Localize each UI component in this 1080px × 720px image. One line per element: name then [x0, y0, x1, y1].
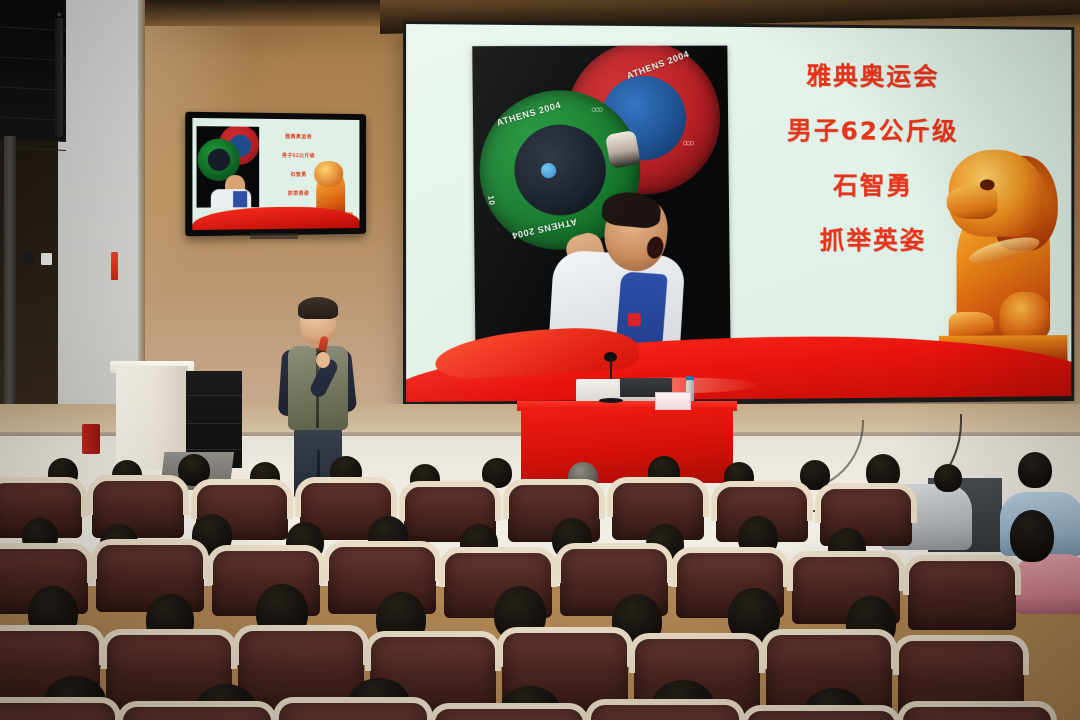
- auditorium-seat[interactable]: [908, 560, 1016, 630]
- auditorium-scene: 雅典奥运会 男子62公斤级 石智勇 抓举英姿 ATHENS 2004 ○○○: [0, 0, 1080, 720]
- auditorium-seat[interactable]: [278, 702, 428, 720]
- athlete-hair: [601, 190, 663, 230]
- auditorium-seat[interactable]: [902, 706, 1052, 720]
- name-card: [655, 392, 691, 410]
- audience-hoodie: [1014, 554, 1080, 614]
- tv-line-2: 男子62公斤级: [267, 152, 330, 159]
- slide-line-1: 雅典奥运会: [763, 63, 982, 89]
- wall-jack: [24, 250, 33, 264]
- plate-reflection: [541, 163, 556, 178]
- auditorium-seat[interactable]: [590, 704, 740, 720]
- projection-screen-frame: ATHENS 2004 ○○○ ATHENS 2004 ATHENS 2004 …: [403, 21, 1074, 407]
- speaker-mount-bracket: [55, 18, 63, 136]
- desk-microphone-base: [599, 398, 623, 403]
- green-plate-hub: [514, 124, 606, 216]
- projection-screen: ATHENS 2004 ○○○ ATHENS 2004 ATHENS 2004 …: [406, 24, 1071, 402]
- red-silk-ribbon: [406, 306, 1071, 402]
- tv-wall-mount: [250, 233, 298, 239]
- auditorium-seat[interactable]: [434, 708, 584, 720]
- auditorium-seat[interactable]: [0, 702, 116, 720]
- lion-eye: [980, 179, 995, 190]
- slide-line-2: 男子62公斤级: [763, 118, 982, 144]
- auditorium-seat[interactable]: [122, 706, 272, 720]
- lion-snout: [947, 185, 998, 219]
- auditorium-seat[interactable]: [746, 710, 896, 720]
- tv-line-1: 雅典奥运会: [267, 133, 330, 140]
- olympic-rings-icon-red: ○○○: [682, 138, 692, 148]
- wall-outlet: [41, 253, 52, 265]
- wall-tv: 雅典奥运会 男子62公斤级 石智勇 抓举英姿: [185, 112, 366, 237]
- presenter-hair: [298, 297, 338, 319]
- fire-alarm-strobe: [111, 258, 118, 280]
- wall-tv-screen: 雅典奥运会 男子62公斤级 石智勇 抓举英姿: [192, 118, 359, 230]
- audience-head: [1018, 452, 1052, 488]
- hanging-rod: [4, 136, 16, 436]
- audience-head: [1010, 510, 1054, 562]
- audience-head: [934, 464, 962, 492]
- presenter-hand: [316, 352, 330, 368]
- olympic-rings-icon-green: ○○○: [591, 104, 602, 114]
- plate-weight-mark: 10: [486, 195, 497, 206]
- athlete-hand: [605, 130, 641, 169]
- seated-audience: [0, 444, 1080, 720]
